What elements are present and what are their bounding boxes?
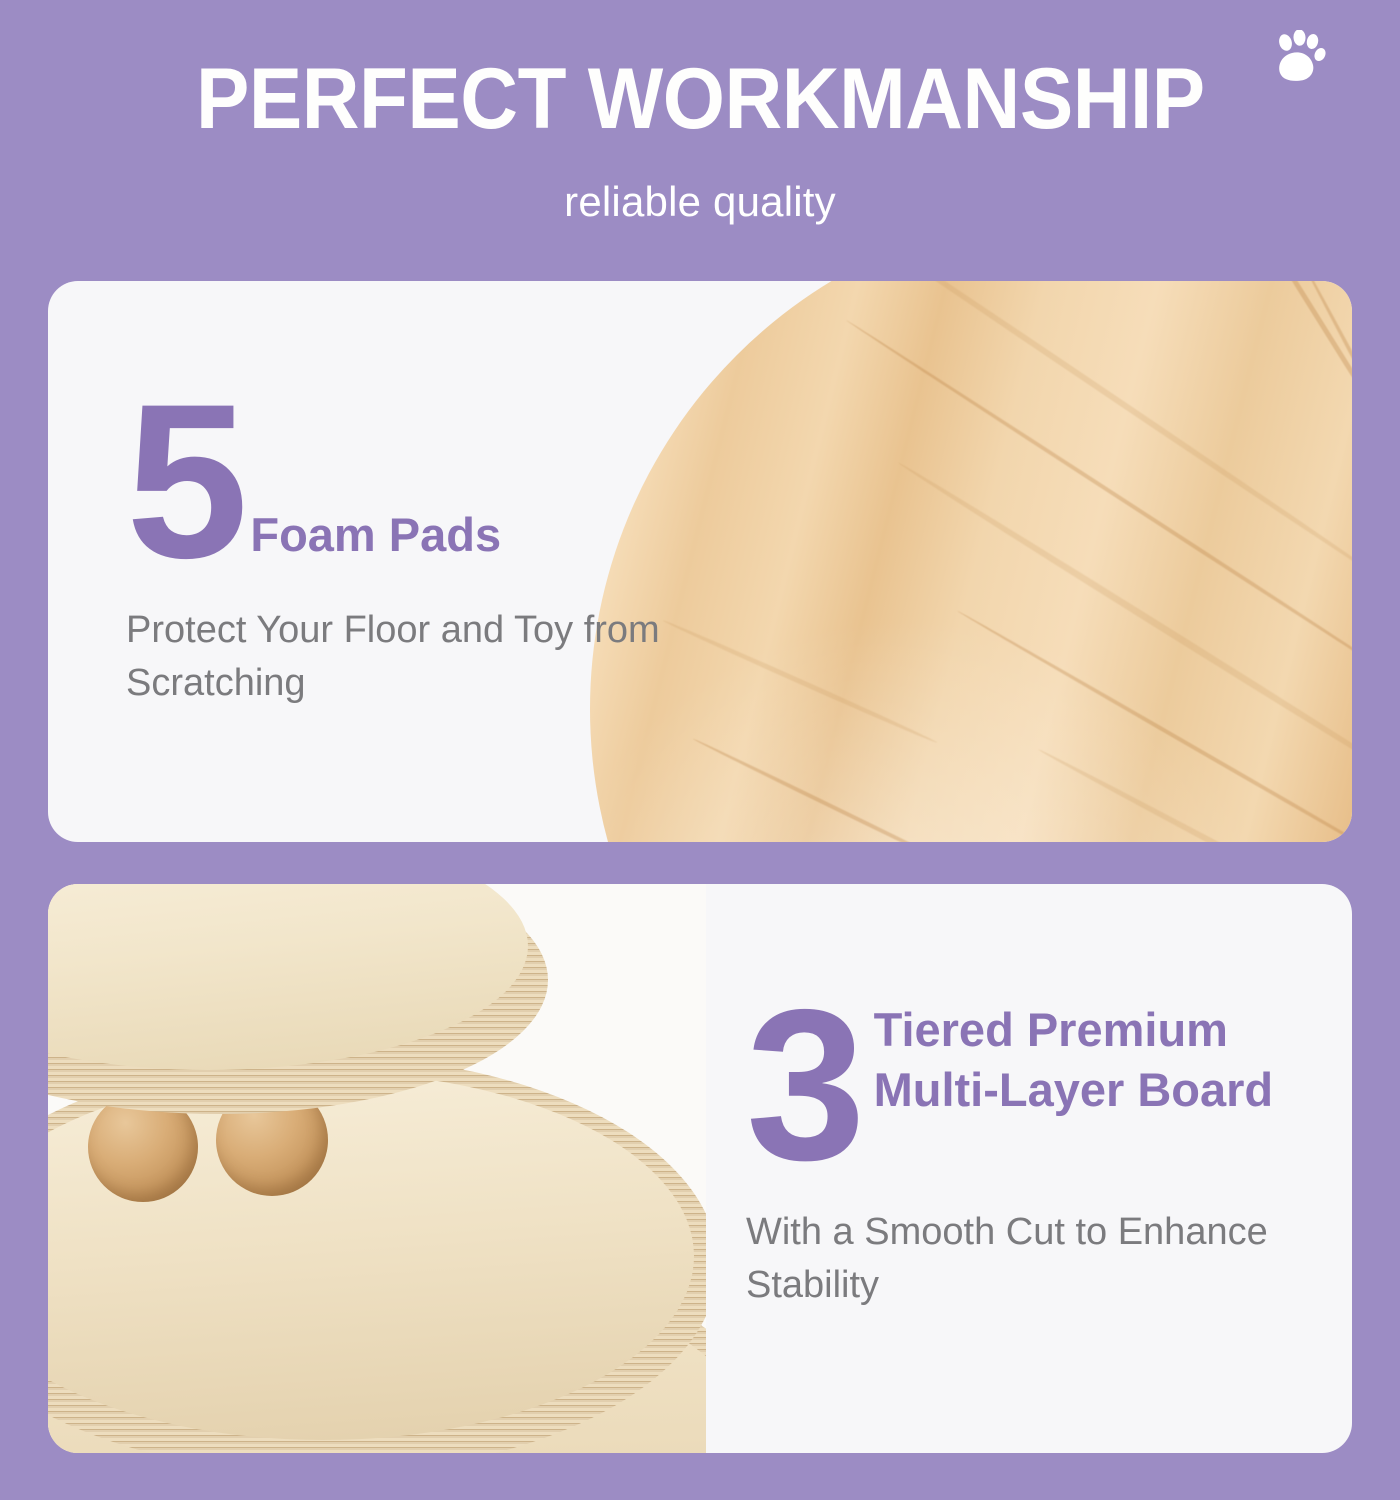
wood-grain-texture — [590, 281, 1352, 842]
page-title-row: PERFECT WORKMANSHIP — [0, 52, 1400, 146]
foam-pads-description: Protect Your Floor and Toy from Scratchi… — [126, 604, 666, 710]
tiered-board-heading: 3 Tiered Premium Multi-Layer Board — [746, 994, 1316, 1176]
tiered-board-number: 3 — [746, 994, 860, 1176]
foam-pads-heading: 5 Foam Pads — [126, 386, 666, 576]
tiered-toy-image — [48, 884, 706, 1453]
feature-card-foam-pads: 5 Foam Pads Protect Your Floor and Toy f… — [48, 281, 1352, 842]
header-banner: PERFECT WORKMANSHIP reliable quality — [0, 0, 1400, 281]
foam-pads-title: Foam Pads — [250, 507, 501, 563]
foam-pads-number: 5 — [126, 386, 242, 576]
feature-card-tiered-board: 3 Tiered Premium Multi-Layer Board With … — [48, 884, 1352, 1453]
page-title: PERFECT WORKMANSHIP — [196, 52, 1205, 146]
wooden-disc-image — [590, 281, 1352, 842]
foam-pads-text-block: 5 Foam Pads Protect Your Floor and Toy f… — [126, 386, 666, 710]
paw-print-icon — [1272, 30, 1326, 86]
tiered-board-text-block: 3 Tiered Premium Multi-Layer Board With … — [746, 994, 1316, 1312]
tiered-board-title: Tiered Premium Multi-Layer Board — [874, 994, 1316, 1120]
tiered-board-description: With a Smooth Cut to Enhance Stability — [746, 1206, 1316, 1312]
page-subtitle: reliable quality — [0, 178, 1400, 226]
